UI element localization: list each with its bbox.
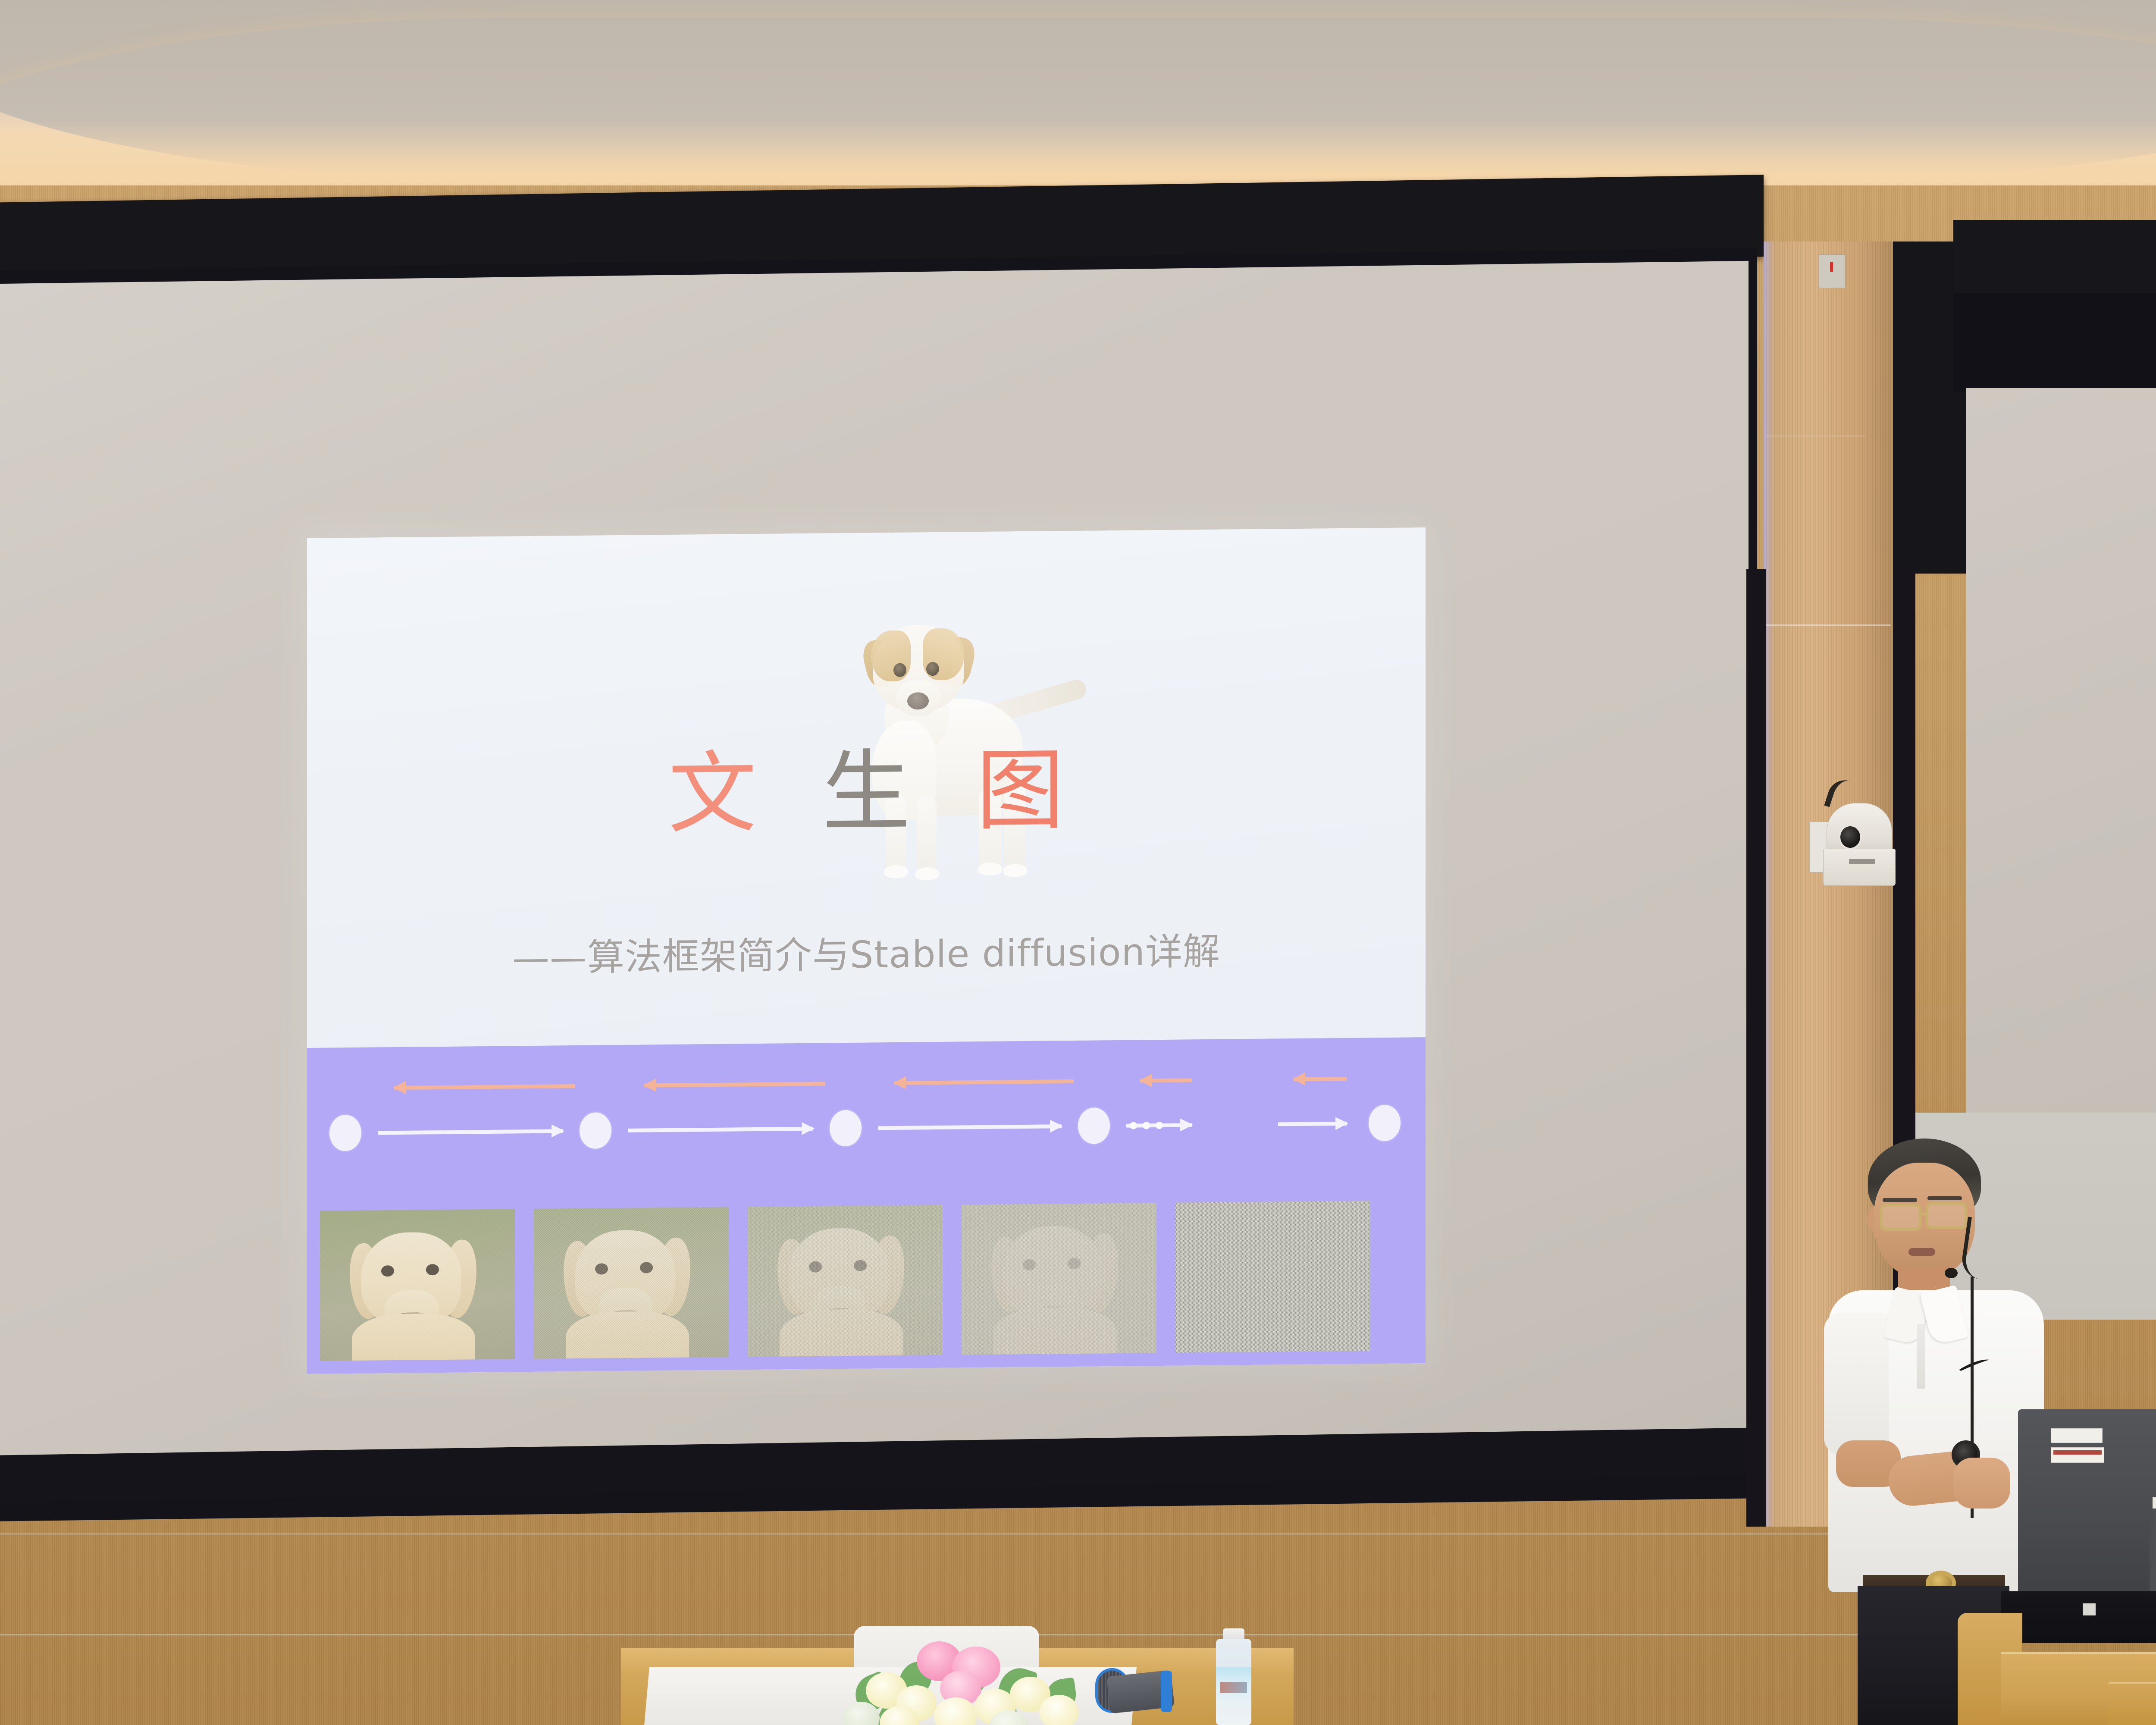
fade-layer (1175, 1201, 1370, 1352)
presenter-sleeve (1824, 1313, 1889, 1455)
fade-layer (534, 1207, 729, 1359)
glasses-bridge (1921, 1213, 1928, 1215)
bottle-label (1216, 1667, 1251, 1705)
chain-node (329, 1115, 361, 1151)
flower-bouquet (815, 1634, 1117, 1725)
ptz-camera-icon (1827, 803, 1892, 854)
puppy-paw (915, 867, 939, 881)
monitor-asset-sticker (2051, 1428, 2103, 1443)
diffusion-chain (329, 1069, 1407, 1179)
thumbnail-stage-0 (320, 1209, 515, 1361)
projected-slide: 文 生 图 ——算法框架简介与Stable diffusion详解 (307, 527, 1426, 1374)
reverse-arrow-icon (894, 1079, 1074, 1085)
fade-layer (320, 1209, 515, 1361)
puppy-eye (926, 662, 939, 676)
forward-arrow-icon (1278, 1122, 1347, 1126)
reverse-arrow-icon (1294, 1077, 1347, 1081)
slide-subtitle: ——算法框架简介与Stable diffusion详解 (307, 919, 1426, 984)
puppy-eye (893, 663, 906, 677)
microphone-capsule-icon (1945, 1268, 1958, 1278)
puppy-paw (1003, 864, 1027, 877)
monitor-base (2001, 1591, 2156, 1643)
puppy-leg (886, 793, 906, 870)
puppy-leg (917, 796, 937, 872)
chain-node (580, 1112, 611, 1149)
puppy-paw (884, 865, 908, 878)
chain-node (830, 1110, 862, 1147)
presenter-hand (1953, 1458, 2010, 1509)
monitor-red-sticker (2051, 1447, 2104, 1463)
glasses-icon (1880, 1204, 1921, 1231)
puppy-paw (978, 862, 1002, 876)
forward-arrow-icon (878, 1124, 1062, 1130)
sensor-led-icon (1830, 262, 1833, 272)
puppy-leg (979, 787, 1001, 869)
presenter-brow (1883, 1198, 1917, 1202)
diffusion-band (307, 1037, 1426, 1374)
camera-lens-icon (1839, 825, 1862, 850)
pillar-seam (1766, 624, 1891, 626)
pillar-seam (1766, 436, 1865, 436)
ellipsis-icon (1130, 1122, 1163, 1129)
camera-base (1823, 849, 1896, 886)
thumbnail-stage-1 (534, 1207, 729, 1359)
puppy-photo (820, 606, 1087, 885)
microphone-ring (1161, 1671, 1172, 1712)
flower-cream (1039, 1695, 1079, 1725)
title-char-1: 文 (668, 753, 757, 835)
chain-node (1369, 1105, 1401, 1142)
monitor-stand-highlight (2153, 1497, 2156, 1509)
secondary-screen-surface (1966, 388, 2156, 1113)
thumbnail-stage-3 (962, 1203, 1156, 1355)
reverse-arrow-icon (644, 1082, 825, 1087)
noise-progression-strip (320, 1200, 1411, 1361)
thumbnail-stage-4 (1175, 1201, 1370, 1352)
thumbnail-stage-2 (748, 1205, 943, 1357)
secondary-screen-housing (1953, 220, 2156, 293)
pillar-shadow-left (1746, 569, 1766, 1527)
forward-arrow-icon (378, 1129, 563, 1135)
camera-brand-mark (1849, 859, 1875, 864)
glasses-icon (1926, 1202, 1967, 1229)
fade-layer (748, 1205, 943, 1357)
reverse-arrow-icon (1140, 1078, 1192, 1082)
puppy-leg (1004, 781, 1025, 869)
lectern-panel (2109, 1682, 2156, 1725)
chain-node (1078, 1107, 1110, 1144)
reverse-arrow-icon (394, 1084, 575, 1090)
monitor-power-button[interactable] (2083, 1603, 2096, 1615)
shirt-placket (1917, 1324, 1925, 1389)
fade-layer (962, 1203, 1156, 1355)
secondary-screen-gap (1953, 285, 2156, 392)
lecture-hall-scene: 文 生 图 ——算法框架简介与Stable diffusion详解 (0, 0, 2156, 1725)
forward-arrow-icon (628, 1127, 813, 1132)
presenter-brow (1927, 1196, 1962, 1200)
slide-upper-area: 文 生 图 ——算法框架简介与Stable diffusion详解 (307, 527, 1426, 1048)
presenter-mouth (1908, 1248, 1935, 1256)
